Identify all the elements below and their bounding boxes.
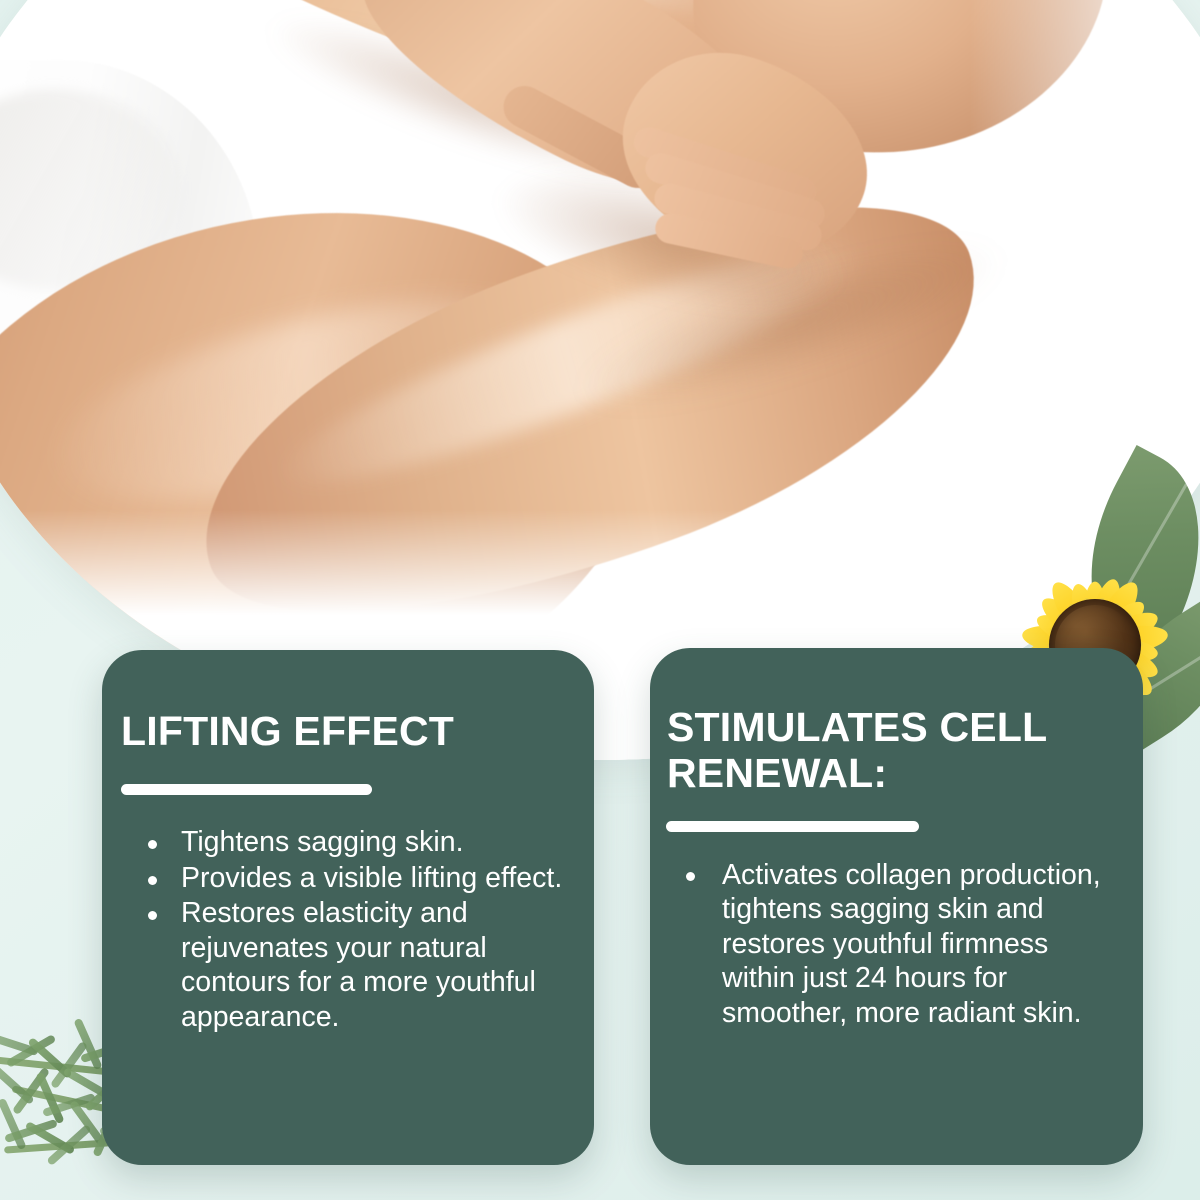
- title-divider: [121, 784, 372, 795]
- list-item: Activates collagen production, tightens …: [672, 858, 1127, 1030]
- benefit-list: Tightens sagging skin. Provides a visibl…: [128, 825, 580, 1034]
- benefit-card-lifting-effect: LIFTING EFFECT Tightens sagging skin. Pr…: [102, 650, 594, 1165]
- title-divider: [666, 821, 919, 832]
- card-title: STIMULATES CELL RENEWAL:: [650, 648, 1143, 797]
- list-item: Restores elasticity and rejuvenates your…: [128, 896, 580, 1034]
- benefit-card-stimulates-cell-renewal: STIMULATES CELL RENEWAL: Activates colla…: [650, 648, 1143, 1165]
- promo-canvas: LIFTING EFFECT Tightens sagging skin. Pr…: [0, 0, 1200, 1200]
- benefit-list: Activates collagen production, tightens …: [672, 858, 1127, 1030]
- card-title: LIFTING EFFECT: [102, 650, 594, 754]
- list-item: Provides a visible lifting effect.: [128, 861, 580, 895]
- list-item: Tightens sagging skin.: [128, 825, 580, 859]
